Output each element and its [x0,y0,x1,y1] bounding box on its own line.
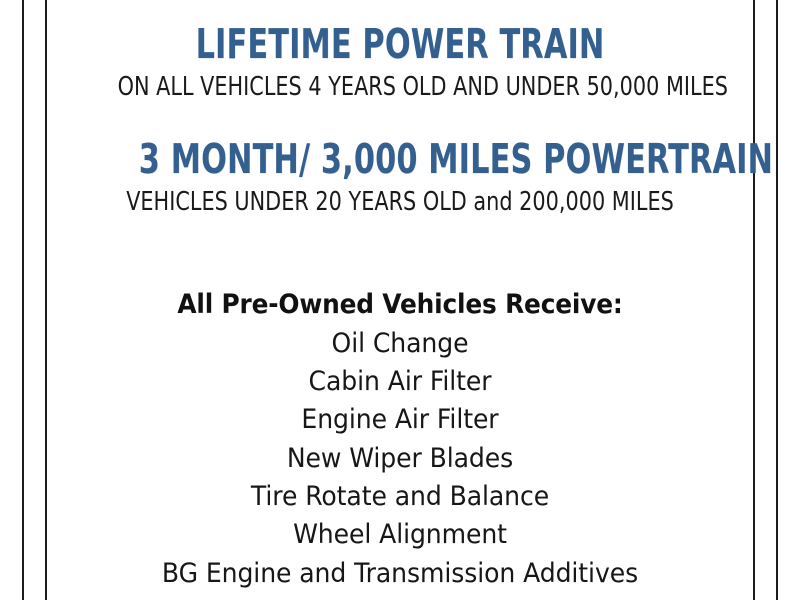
warranty-subtitle-lifetime: ON ALL VEHICLES 4 YEARS OLD AND UNDER 50… [118,73,683,102]
list-item: Engine Air Filter [72,401,729,439]
list-item: Oil Change [72,325,729,363]
warranty-block-lifetime: LIFETIME POWER TRAIN ON ALL VEHICLES 4 Y… [47,0,753,101]
list-item: Cabin Air Filter [72,363,729,401]
list-item: BG Engine and Transmission Additives [72,555,729,593]
services-section: All Pre-Owned Vehicles Receive: Oil Chan… [47,289,753,593]
warranty-headline-lifetime: LIFETIME POWER TRAIN [139,24,661,66]
list-item: Wheel Alignment [72,516,729,554]
frame-rule-right-outer [776,0,778,600]
flyer-page: LIFETIME POWER TRAIN ON ALL VEHICLES 4 Y… [0,0,800,600]
list-item: Tire Rotate and Balance [72,478,729,516]
warranty-headline-3month: 3 MONTH/ 3,000 MILES POWERTRAIN [139,139,661,181]
frame-rule-right-inner [753,0,755,600]
flyer-content: LIFETIME POWER TRAIN ON ALL VEHICLES 4 Y… [47,0,753,600]
warranty-subtitle-3month: VEHICLES UNDER 20 YEARS OLD and 200,000 … [118,188,683,217]
list-item: New Wiper Blades [72,440,729,478]
services-title: All Pre-Owned Vehicles Receive: [75,289,725,321]
services-list: Oil Change Cabin Air Filter Engine Air F… [47,325,753,593]
warranty-block-3month: 3 MONTH/ 3,000 MILES POWERTRAIN VEHICLES… [47,101,753,216]
frame-rule-left-outer [22,0,24,600]
